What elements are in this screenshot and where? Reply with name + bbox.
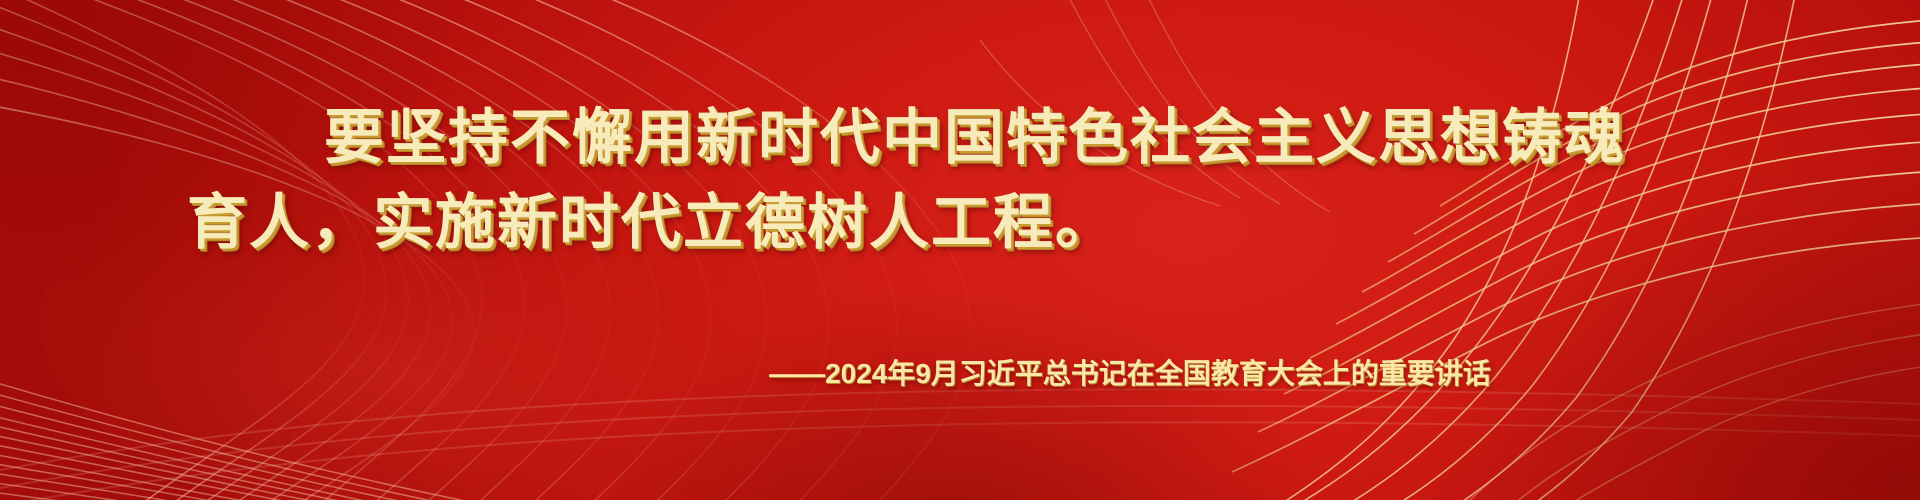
headline-line-1: 要坚持不懈用新时代中国特色社会主义思想铸魂 bbox=[0, 108, 1920, 168]
banner-content: 要坚持不懈用新时代中国特色社会主义思想铸魂 育人，实施新时代立德树人工程。 ——… bbox=[0, 0, 1920, 500]
slogan-banner: 要坚持不懈用新时代中国特色社会主义思想铸魂 育人，实施新时代立德树人工程。 ——… bbox=[0, 0, 1920, 500]
headline-line-2: 育人，实施新时代立德树人工程。 bbox=[0, 193, 1920, 253]
attribution-text: ——2024年9月习近平总书记在全国教育大会上的重要讲话 bbox=[0, 352, 1920, 392]
